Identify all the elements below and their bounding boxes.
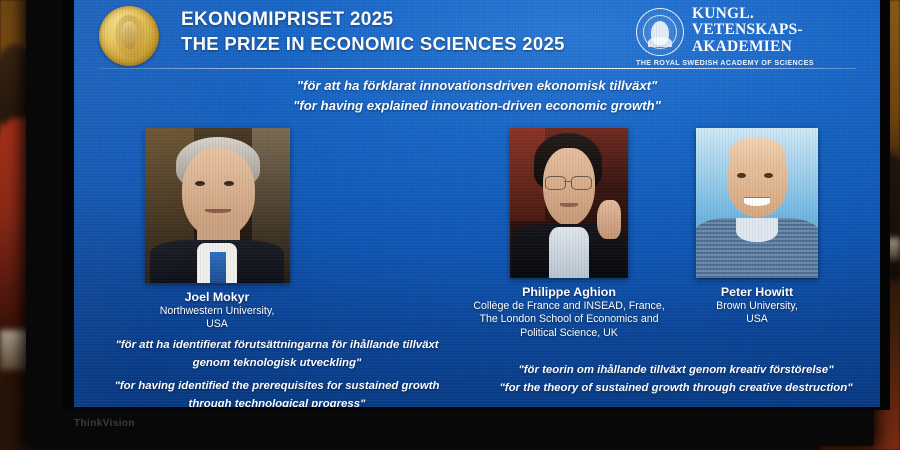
- citation-right-sv-line1: "för teorin om ihållande tillväxt genom …: [478, 362, 874, 380]
- citation-left-en-line1: "for having identified the prerequisites…: [82, 378, 472, 396]
- laureate-portrait: [696, 128, 818, 278]
- portrait-glasses-left: [545, 176, 566, 190]
- laureate-name: Peter Howitt: [662, 285, 852, 300]
- main-citation: "för att ha förklarat innovationsdriven …: [74, 76, 880, 116]
- portrait-mouth: [560, 203, 579, 207]
- portrait-eye-right: [764, 173, 773, 178]
- header-divider: [98, 68, 856, 69]
- slide-header: EKONOMIPRISET 2025 THE PRIZE IN ECONOMIC…: [74, 4, 880, 66]
- laureate-affiliation-line1: Collège de France and INSEAD, France,: [444, 300, 694, 313]
- slide-titles: EKONOMIPRISET 2025 THE PRIZE IN ECONOMIC…: [181, 8, 565, 56]
- laureate-affiliation-line2: USA: [132, 318, 302, 331]
- academy-name-line3: AKADEMIEN: [692, 39, 803, 55]
- main-citation-sv: "för att ha förklarat innovationsdriven …: [74, 76, 880, 96]
- monitor-brand-label: ThinkVision: [74, 418, 135, 429]
- laureate-portrait: Photo: Peter Bierman: [145, 128, 290, 283]
- laureate-affiliation-line1: Northwestern University,: [132, 305, 302, 318]
- portrait-mouth: [744, 197, 771, 206]
- laureate-philippe-aghion: Philippe Aghion Collège de France and IN…: [444, 128, 694, 340]
- citation-right-en-line1: "for the theory of sustained growth thro…: [478, 380, 874, 398]
- academy-logo: KUNGL. VETENSKAPS- AKADEMIEN THE ROYAL S…: [636, 6, 858, 68]
- portrait-forehead: [729, 137, 785, 170]
- laureate-joel-mokyr: Photo: Peter Bierman Joel Mokyr Northwes…: [132, 128, 302, 332]
- laureate-portrait: [510, 128, 628, 278]
- medal-profile: [115, 15, 145, 58]
- laureate-name: Joel Mokyr: [132, 290, 302, 305]
- portrait-eye-left: [737, 173, 746, 178]
- laureate-affiliation-line2: The London School of Economics and: [444, 313, 694, 326]
- page-title-sv: EKONOMIPRISET 2025: [181, 8, 565, 32]
- portrait-glasses-bridge: [564, 181, 571, 182]
- academy-name-line2: VETENSKAPS-: [692, 22, 803, 38]
- citation-left-sv-line2: genom teknologisk utveckling": [82, 355, 472, 373]
- academy-subtitle: THE ROYAL SWEDISH ACADEMY OF SCIENCES: [636, 58, 814, 67]
- academy-name: KUNGL. VETENSKAPS- AKADEMIEN: [692, 6, 803, 55]
- citation-left: "för att ha identifierat förutsättningar…: [82, 337, 472, 407]
- portrait-shirt: [549, 227, 589, 278]
- laureate-affiliation-line3: Political Science, UK: [444, 327, 694, 340]
- presentation-slide: EKONOMIPRISET 2025 THE PRIZE IN ECONOMIC…: [74, 0, 880, 407]
- royal-academy-seal-icon: [636, 8, 684, 56]
- laureate-name: Philippe Aghion: [444, 285, 694, 300]
- portrait-tie: [210, 252, 226, 283]
- main-citation-en: "for having explained innovation-driven …: [74, 96, 880, 116]
- laureate-affiliation-line2: USA: [662, 313, 852, 326]
- photo-scene: ThinkVision EKONOMIPRISET 2025 THE PRIZE…: [0, 0, 900, 450]
- portrait-hand: [597, 200, 621, 239]
- nobel-medal-icon: [99, 6, 159, 66]
- citation-left-en-line2: through technological progress": [82, 396, 472, 408]
- monitor: ThinkVision EKONOMIPRISET 2025 THE PRIZE…: [26, 0, 874, 446]
- portrait-collar: [736, 218, 777, 242]
- laureate-affiliation-line1: Brown University,: [662, 300, 852, 313]
- seal-bust: [651, 21, 669, 45]
- academy-name-line1: KUNGL.: [692, 6, 803, 22]
- page-title-en: THE PRIZE IN ECONOMIC SCIENCES 2025: [181, 32, 565, 56]
- portrait-glasses-right: [571, 176, 592, 190]
- laureate-peter-howitt: Peter Howitt Brown University, USA: [662, 128, 852, 327]
- citation-right: "för teorin om ihållande tillväxt genom …: [478, 362, 874, 397]
- citation-left-sv-line1: "för att ha identifierat förutsättningar…: [82, 337, 472, 355]
